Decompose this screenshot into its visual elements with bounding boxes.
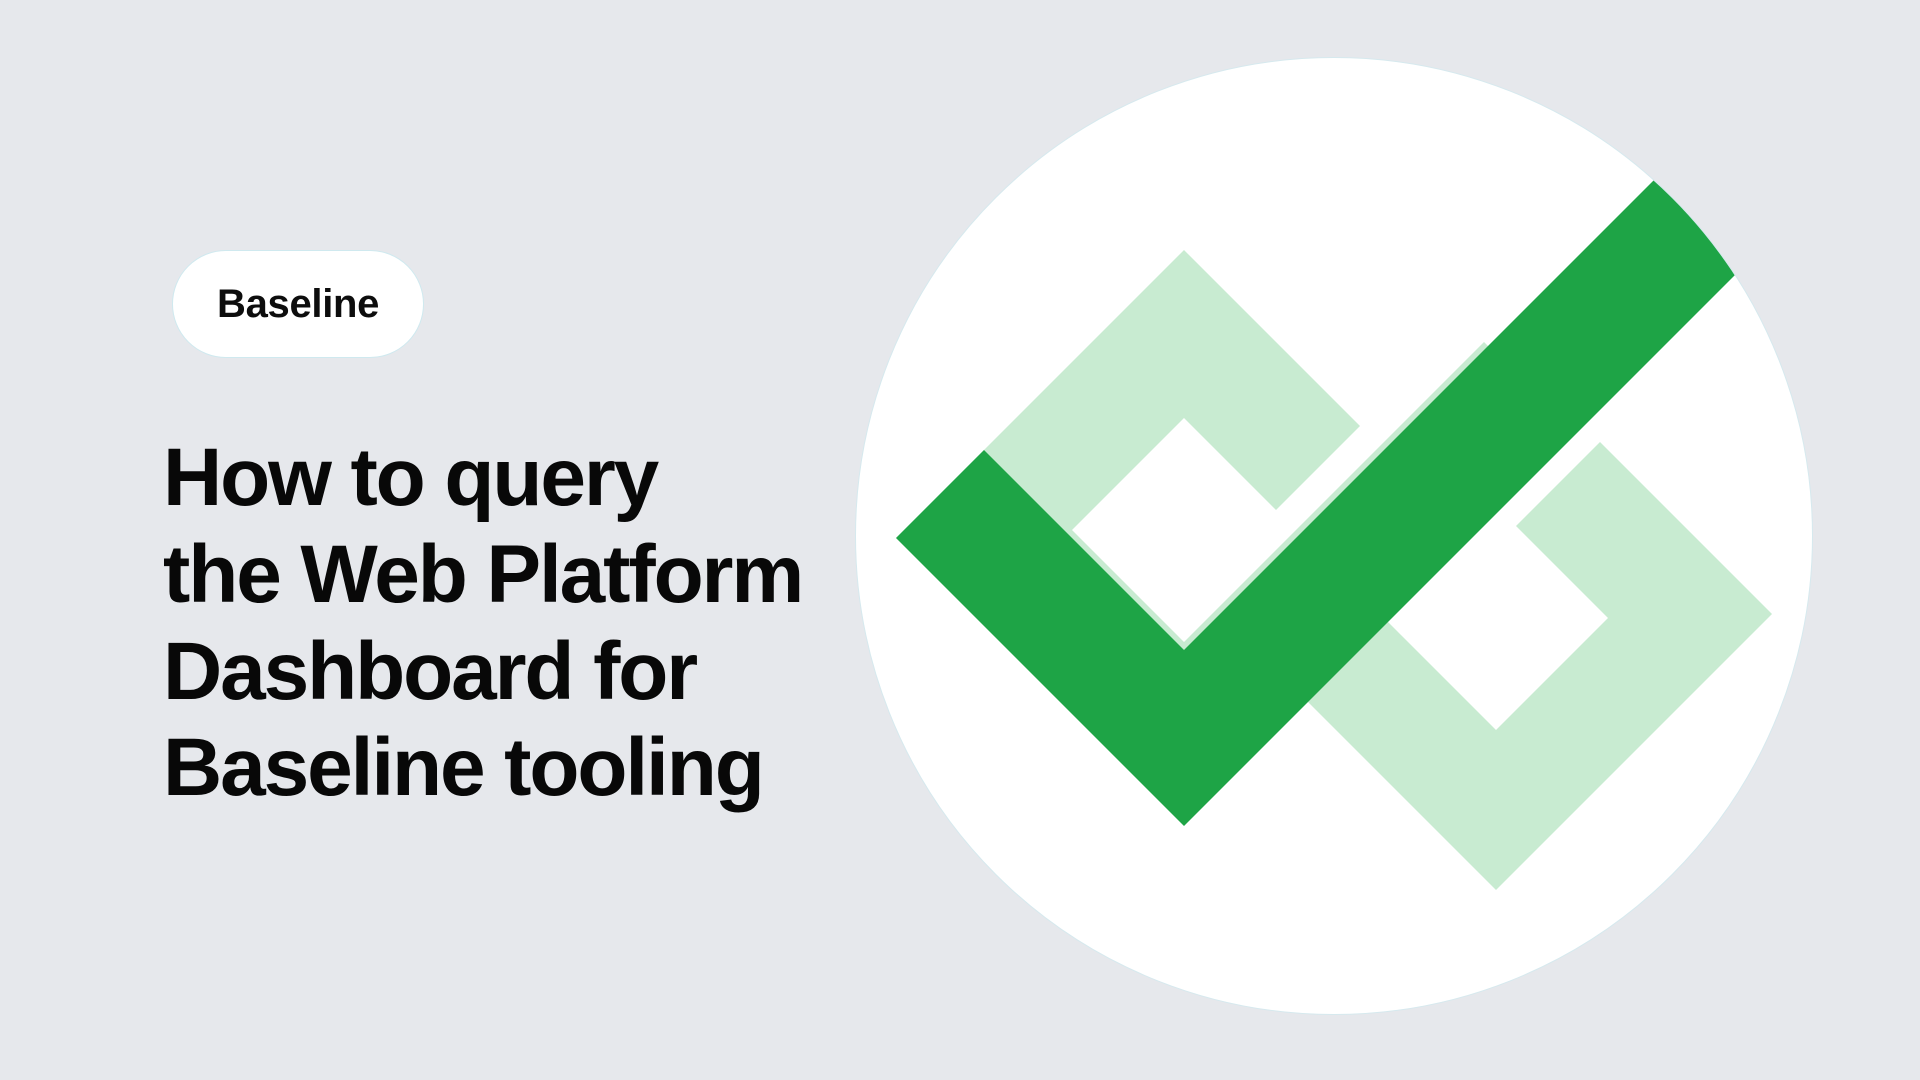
status-badge: Baseline [172,250,424,358]
article-card: Baseline How to query the Web Platform D… [0,0,1920,1080]
headline-line-4: Baseline tooling [163,720,843,817]
headline-line-2: the Web Platform [163,527,843,624]
headline-line-1: How to query [163,430,843,527]
headline-line-3: Dashboard for [163,624,843,721]
badge-label: Baseline [217,284,379,324]
content-column: Baseline How to query the Web Platform D… [163,250,843,817]
logo-disc [855,57,1813,1015]
page-title: How to query the Web Platform Dashboard … [163,430,843,817]
baseline-logo-icon [884,86,1784,986]
